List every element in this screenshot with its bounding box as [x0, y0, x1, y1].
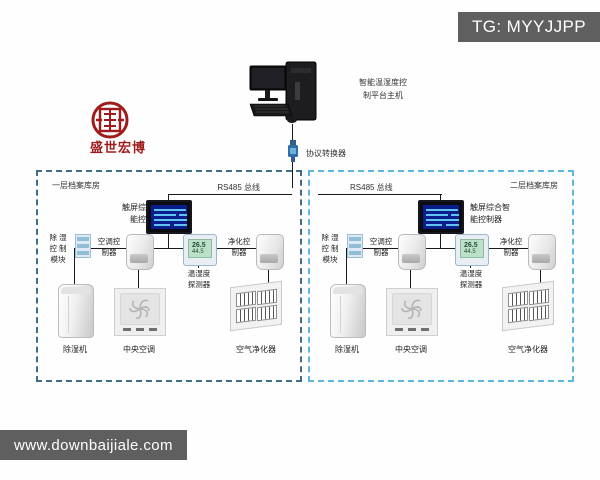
touch-controller[interactable] — [146, 200, 192, 234]
central-ac-icon — [114, 288, 166, 336]
protocol-converter-icon — [288, 140, 298, 162]
fan-icon — [127, 296, 153, 322]
brand-logo: 盛世宏博 — [68, 101, 168, 157]
sensor-screen: 26.5 44.5 — [188, 239, 212, 258]
diagram-canvas: TG: MYYJJPP www.downbaijiale.com 盛世宏博 智能… — [0, 0, 600, 480]
controller-screen — [151, 205, 187, 229]
purify-controller-label: 净化控 制器 — [224, 236, 254, 258]
brand-name: 盛世宏博 — [68, 137, 168, 156]
controller-screen — [423, 205, 459, 229]
host-label: 智能温湿度控 制平台主机 — [346, 76, 420, 102]
ac-controller-icon — [126, 234, 152, 268]
air-purifier-label: 空气净化器 — [498, 344, 558, 355]
touch-controller[interactable] — [418, 200, 464, 234]
tag-watermark: TG: MYYJJPP — [458, 12, 600, 42]
site-url-watermark: www.downbaijiale.com — [0, 430, 187, 460]
temp-humidity-sensor-label: 温湿度 探测器 — [171, 268, 227, 290]
sensor-screen: 26.5 44.5 — [460, 239, 484, 258]
air-purifier-icon — [230, 284, 284, 330]
dehumidify-module-label: 除 湿 控 制 模块 — [44, 232, 72, 265]
central-ac-label: 中央空调 — [381, 344, 441, 355]
dehumidify-module-label: 除 湿 控 制 模块 — [316, 232, 344, 265]
rs485-bus-label: RS485 总线 — [217, 182, 260, 193]
panel-floor-1: 一层档案库房 RS485 总线 触屏综合智 能控制器 — [36, 170, 302, 382]
central-ac-icon — [386, 288, 438, 336]
rs485-bus-label: RS485 总线 — [350, 182, 393, 193]
air-purifier-label: 空气净化器 — [226, 344, 286, 355]
ac-controller-icon — [398, 234, 424, 268]
fan-icon — [399, 296, 425, 322]
host-computer — [248, 60, 336, 132]
dehumidifier-label: 除湿机 — [45, 344, 105, 355]
purify-controller-icon — [256, 234, 282, 268]
dehumidifier-icon — [58, 284, 94, 338]
circular-seal-logo-icon — [90, 101, 130, 139]
panel-title: 二层档案库房 — [510, 180, 558, 191]
controller-bus-drop — [168, 234, 169, 248]
purify-controller-label: 净化控 制器 — [496, 236, 526, 258]
protocol-converter-label: 协议转换器 — [306, 148, 346, 159]
protocol-converter — [288, 140, 298, 162]
controller-label: 触屏综合智 能控制器 — [470, 202, 526, 226]
temp-humidity-sensor-label: 温湿度 探测器 — [443, 268, 499, 290]
dehumidifier-label: 除湿机 — [317, 344, 377, 355]
temp-humidity-sensor-icon: 26.5 44.5 — [455, 234, 489, 266]
bus-line-horizontal — [168, 194, 292, 195]
dehumidify-module-icon — [75, 234, 91, 258]
temp-humidity-sensor-icon: 26.5 44.5 — [183, 234, 217, 266]
purify-controller-icon — [528, 234, 554, 268]
dehumidifier-icon — [330, 284, 366, 338]
dehumidify-module-icon — [347, 234, 363, 258]
desktop-computer-icon — [248, 60, 336, 132]
controller-bus-drop — [440, 234, 441, 248]
panel-floor-2: 二层档案库房 RS485 总线 触屏综合智 能控制器 除 湿 控 制 — [308, 170, 574, 382]
air-purifier-icon — [502, 284, 556, 330]
ac-controller-label: 空调控 制器 — [366, 236, 396, 258]
panel-title: 一层档案库房 — [52, 180, 100, 191]
bus-line-horizontal — [318, 194, 442, 195]
ac-controller-label: 空调控 制器 — [94, 236, 124, 258]
central-ac-label: 中央空调 — [109, 344, 169, 355]
